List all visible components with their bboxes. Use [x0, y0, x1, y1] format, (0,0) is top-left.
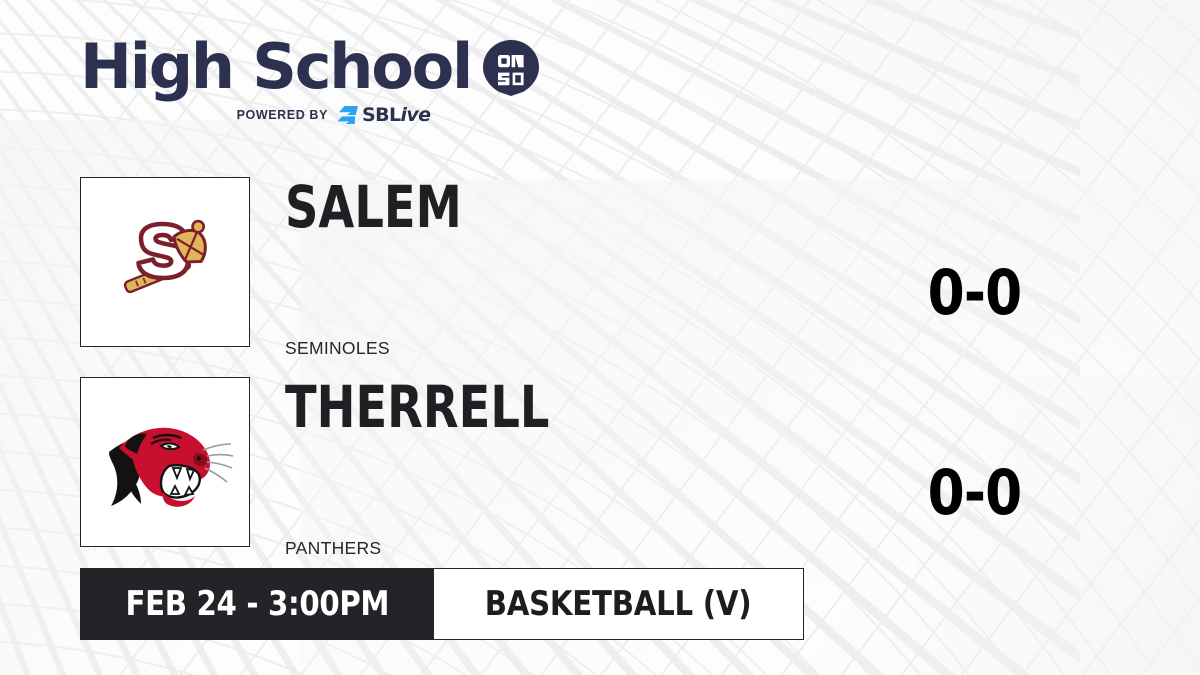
game-datetime-chip: FEB 24 - 3:00PM — [80, 568, 434, 640]
away-team-record: 0-0 — [928, 262, 1022, 324]
away-team-mascot: SEMINOLES — [285, 340, 390, 358]
scoreboard-graphic: High School POW — [0, 0, 1200, 675]
sblive-logo: SBLive — [337, 105, 430, 125]
powered-by-row: POWERED BY SBLive — [126, 105, 541, 125]
sblive-italic-text: ive — [400, 104, 430, 126]
home-team-name: THERRELL — [285, 378, 549, 436]
home-team-logo-box — [80, 377, 250, 547]
sblive-wordmark: SBLive — [362, 106, 430, 125]
game-sport-chip: BASKETBALL (V) — [434, 568, 804, 640]
powered-by-label: POWERED BY — [237, 108, 328, 122]
brand-wordmark-text: High School — [80, 36, 471, 98]
game-info-banner: FEB 24 - 3:00PM BASKETBALL (V) — [80, 568, 804, 640]
on-si-pin-icon — [481, 38, 541, 98]
salem-seminoles-logo-icon — [105, 202, 225, 322]
away-team-name: SALEM — [285, 178, 462, 236]
game-datetime-text: FEB 24 - 3:00PM — [125, 584, 389, 624]
home-team-record: 0-0 — [928, 462, 1022, 524]
brand-lockup: High School POW — [80, 36, 541, 125]
sblive-bolt-icon — [337, 105, 359, 125]
away-team-logo-box — [80, 177, 250, 347]
sblive-main-text: SBL — [362, 104, 400, 126]
background-sheen-top-right — [461, 0, 1200, 639]
home-team-mascot: PANTHERS — [285, 540, 381, 558]
therrell-panthers-logo-icon — [95, 402, 235, 522]
game-sport-text: BASKETBALL (V) — [485, 584, 752, 624]
brand-wordmark-row: High School — [80, 36, 541, 98]
